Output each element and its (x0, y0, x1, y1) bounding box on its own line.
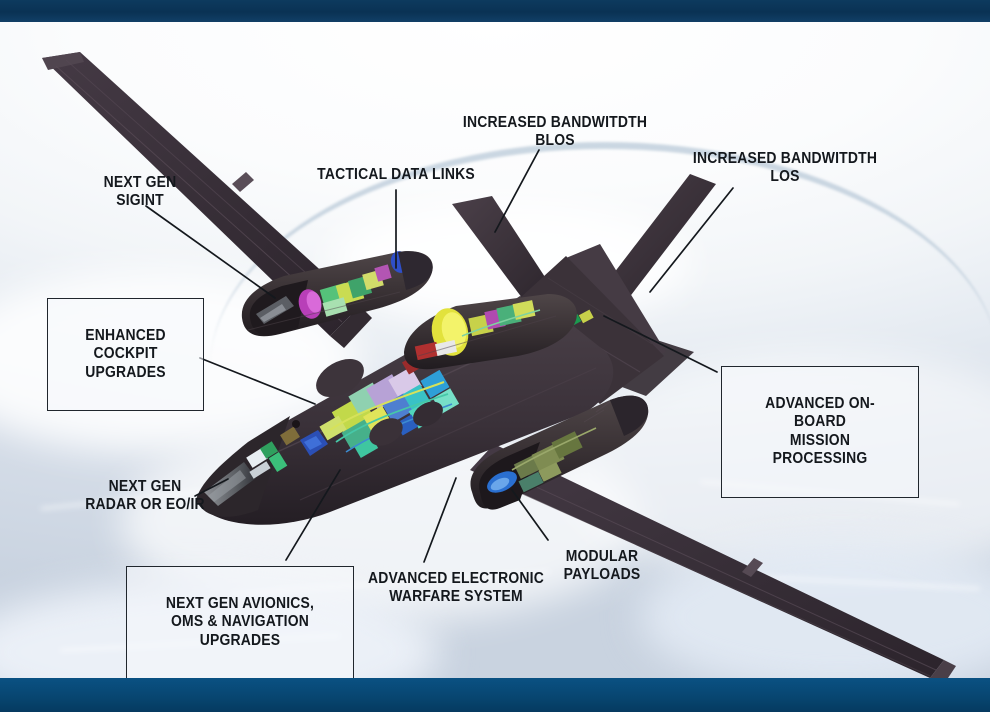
label-next-gen-radar-eoir: NEXT GEN RADAR OR EO/IR (64, 478, 226, 515)
label-enhanced-cockpit-upgrades-text: ENHANCED COCKPIT UPGRADES (67, 327, 183, 383)
label-increased-bandwidth-los: INCREASED BANDWITDTH LOS (682, 150, 889, 187)
label-increased-bandwidth-blos: INCREASED BANDWITDTH BLOS (452, 114, 659, 151)
diagram-canvas: NEXT GEN SIGINT TACTICAL DATA LINKS INCR… (0, 0, 990, 712)
bottom-brand-bar (0, 678, 990, 712)
label-next-gen-avionics-text: NEXT GEN AVIONICS, OMS & NAVIGATION UPGR… (150, 595, 330, 651)
label-tactical-data-links: TACTICAL DATA LINKS (306, 166, 486, 184)
top-brand-bar (0, 0, 990, 22)
label-advanced-on-board-mission-processing-text: ADVANCED ON-BOARD MISSION PROCESSING (744, 395, 897, 469)
label-advanced-electronic-warfare-system: ADVANCED ELECTRONIC WARFARE SYSTEM (366, 570, 546, 607)
label-modular-payloads: MODULAR PAYLOADS (546, 548, 658, 585)
label-enhanced-cockpit-upgrades: ENHANCED COCKPIT UPGRADES (47, 298, 204, 411)
label-next-gen-avionics: NEXT GEN AVIONICS, OMS & NAVIGATION UPGR… (126, 566, 354, 679)
label-advanced-on-board-mission-processing: ADVANCED ON-BOARD MISSION PROCESSING (721, 366, 919, 498)
label-next-gen-sigint: NEXT GEN SIGINT (68, 174, 212, 211)
